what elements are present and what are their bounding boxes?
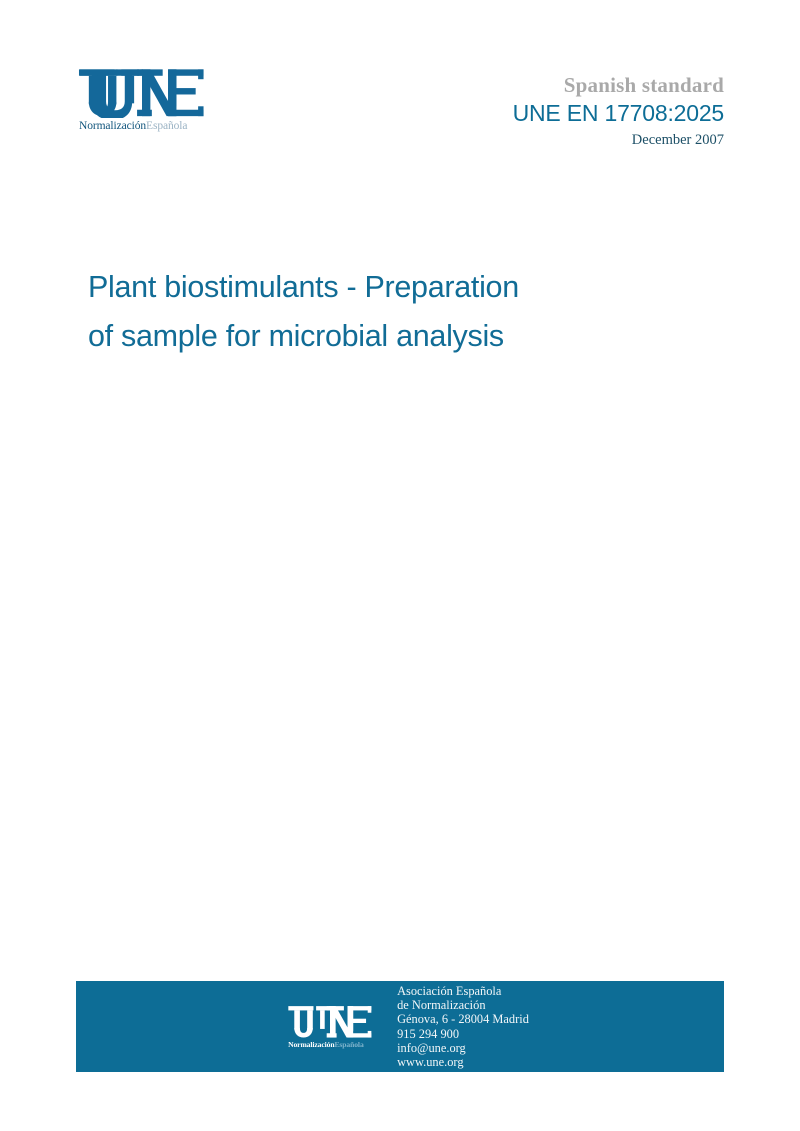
une-logo-footer-subtitle-secondary: Española (334, 1040, 363, 1049)
footer-address-line: Génova, 6 - 28004 Madrid (397, 1012, 529, 1026)
une-logo-footer-subtitle-primary: Normalización (288, 1040, 334, 1049)
une-logotype-icon (78, 68, 206, 118)
document-page: NormalizaciónEspañola Spanish standard U… (0, 0, 800, 1131)
document-title: Plant biostimulants - Preparation of sam… (88, 263, 708, 361)
footer-address-line: de Normalización (397, 998, 529, 1012)
footer-email[interactable]: info@une.org (397, 1041, 529, 1055)
footer-address-block: Asociación Española de Normalización Gén… (397, 984, 529, 1069)
une-logo-subtitle-primary: Normalización (79, 120, 146, 132)
document-title-line-2: of sample for microbial analysis (88, 312, 708, 361)
footer-content: NormalizaciónEspañola Asociación Español… (287, 984, 529, 1069)
une-logo: NormalizaciónEspañola (78, 68, 206, 132)
document-title-line-1: Plant biostimulants - Preparation (88, 263, 708, 312)
standard-kind-label: Spanish standard (513, 72, 724, 98)
document-footer-bar: NormalizaciónEspañola Asociación Español… (76, 981, 724, 1072)
standard-date: December 2007 (513, 129, 724, 151)
une-logo-footer: NormalizaciónEspañola (287, 1005, 373, 1049)
une-logo-footer-subtitle: NormalizaciónEspañola (287, 1040, 373, 1049)
une-logotype-icon (287, 1005, 373, 1039)
une-logo-subtitle-secondary: Española (146, 120, 187, 132)
standard-identification: Spanish standard UNE EN 17708:2025 Decem… (513, 72, 724, 151)
footer-address-line: Asociación Española (397, 984, 529, 998)
standard-reference: UNE EN 17708:2025 (513, 98, 724, 128)
footer-website[interactable]: www.une.org (397, 1055, 529, 1069)
footer-phone: 915 294 900 (397, 1027, 529, 1041)
document-header: NormalizaciónEspañola Spanish standard U… (0, 0, 800, 190)
une-logo-subtitle: NormalizaciónEspañola (78, 120, 206, 132)
